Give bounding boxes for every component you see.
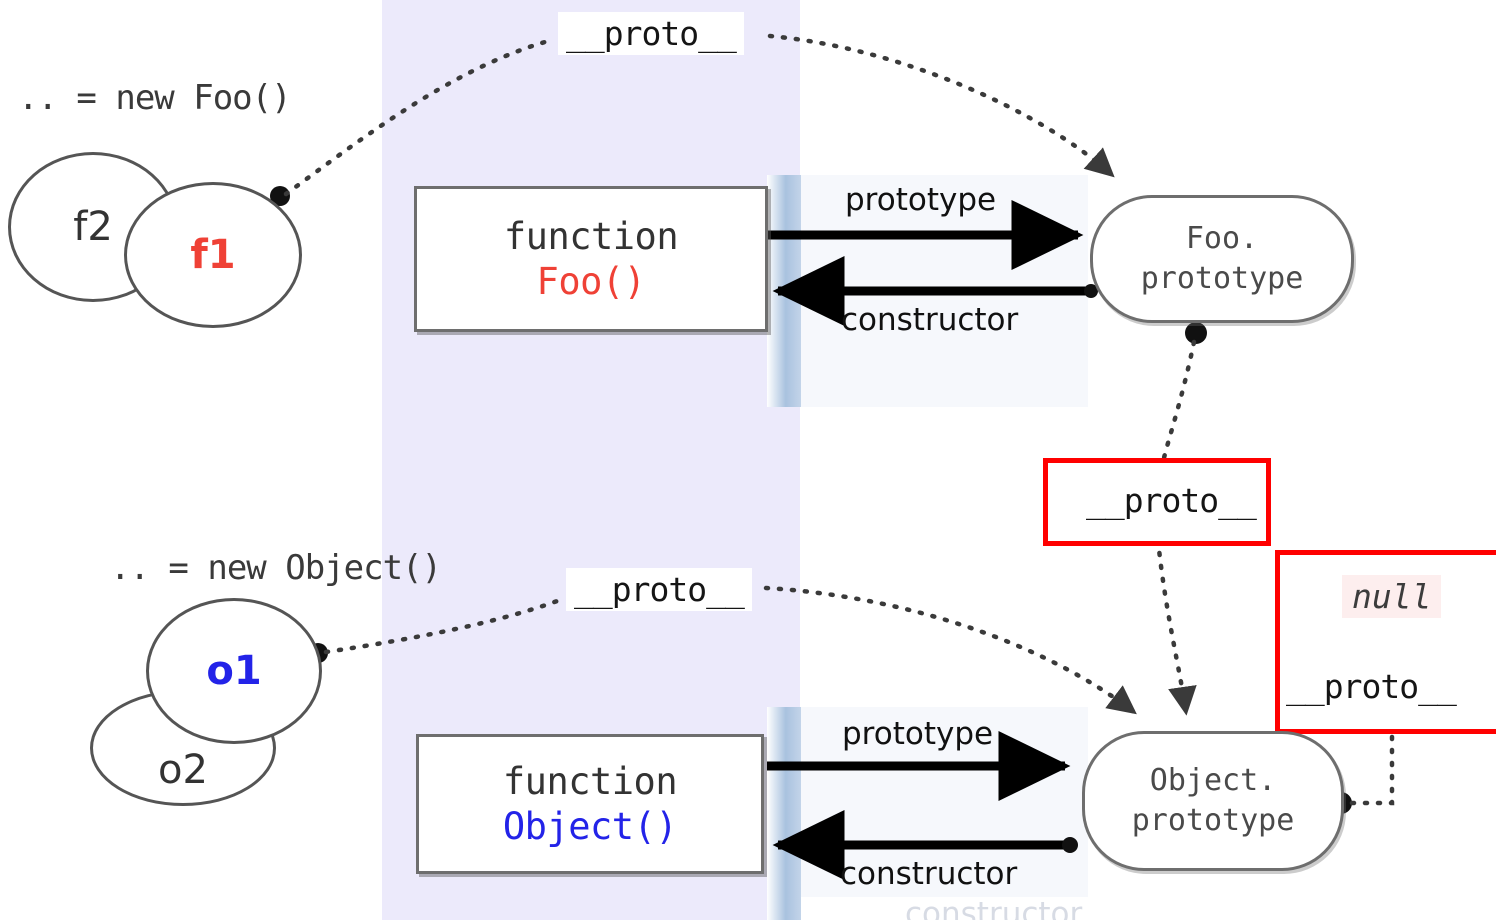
null-box-proto-label: __proto__ <box>1286 667 1456 706</box>
edge-foo-constructor-backward <box>778 284 1098 298</box>
object-prototype-line2: prototype <box>1132 801 1295 841</box>
proto-red-box: __proto__ <box>1043 458 1271 546</box>
label-constructor-top: constructor <box>841 302 1018 338</box>
edge-f1-proto-to-foo-prototype <box>270 36 1112 206</box>
function-foo-keyword: function <box>504 214 678 259</box>
circle-o1: o1 <box>146 598 322 744</box>
object-prototype-node: Object. prototype <box>1082 731 1344 871</box>
foo-prototype-line2: prototype <box>1141 259 1304 299</box>
circle-f1-label: f1 <box>190 232 235 278</box>
circle-o2-label: o2 <box>158 747 208 793</box>
label-prototype-bottom: prototype <box>842 716 993 752</box>
function-foo-name: Foo() <box>537 259 646 304</box>
label-constructor-ghost: constructor <box>905 896 1082 920</box>
function-object-name: Object() <box>503 804 677 849</box>
edge-object-constructor-backward <box>778 837 1078 853</box>
label-prototype-top: prototype <box>845 182 996 218</box>
caption-new-object: .. = new Object() <box>110 548 441 588</box>
object-prototype-line1: Object. <box>1150 761 1276 801</box>
label-constructor-bottom: constructor <box>840 856 1017 892</box>
prototype-chain-diagram: .. = new Foo() f2 f1 function Foo() Foo.… <box>0 0 1496 920</box>
function-object-keyword: function <box>503 759 677 804</box>
caption-new-foo: .. = new Foo() <box>18 78 291 118</box>
function-foo-box: function Foo() <box>414 186 768 332</box>
null-value-chip: null <box>1342 575 1441 618</box>
foo-prototype-node: Foo. prototype <box>1090 195 1354 323</box>
circle-f1: f1 <box>124 182 302 328</box>
proto-label-o1: __proto__ <box>566 568 752 611</box>
null-red-box: null __proto__ <box>1275 550 1496 734</box>
proto-red-box-label: __proto__ <box>1086 481 1256 520</box>
circle-o1-label: o1 <box>206 648 261 694</box>
proto-label-f1: __proto__ <box>558 12 744 55</box>
function-object-box: function Object() <box>416 734 764 874</box>
circle-f2-label: f2 <box>73 204 113 250</box>
foo-prototype-line1: Foo. <box>1186 219 1258 259</box>
